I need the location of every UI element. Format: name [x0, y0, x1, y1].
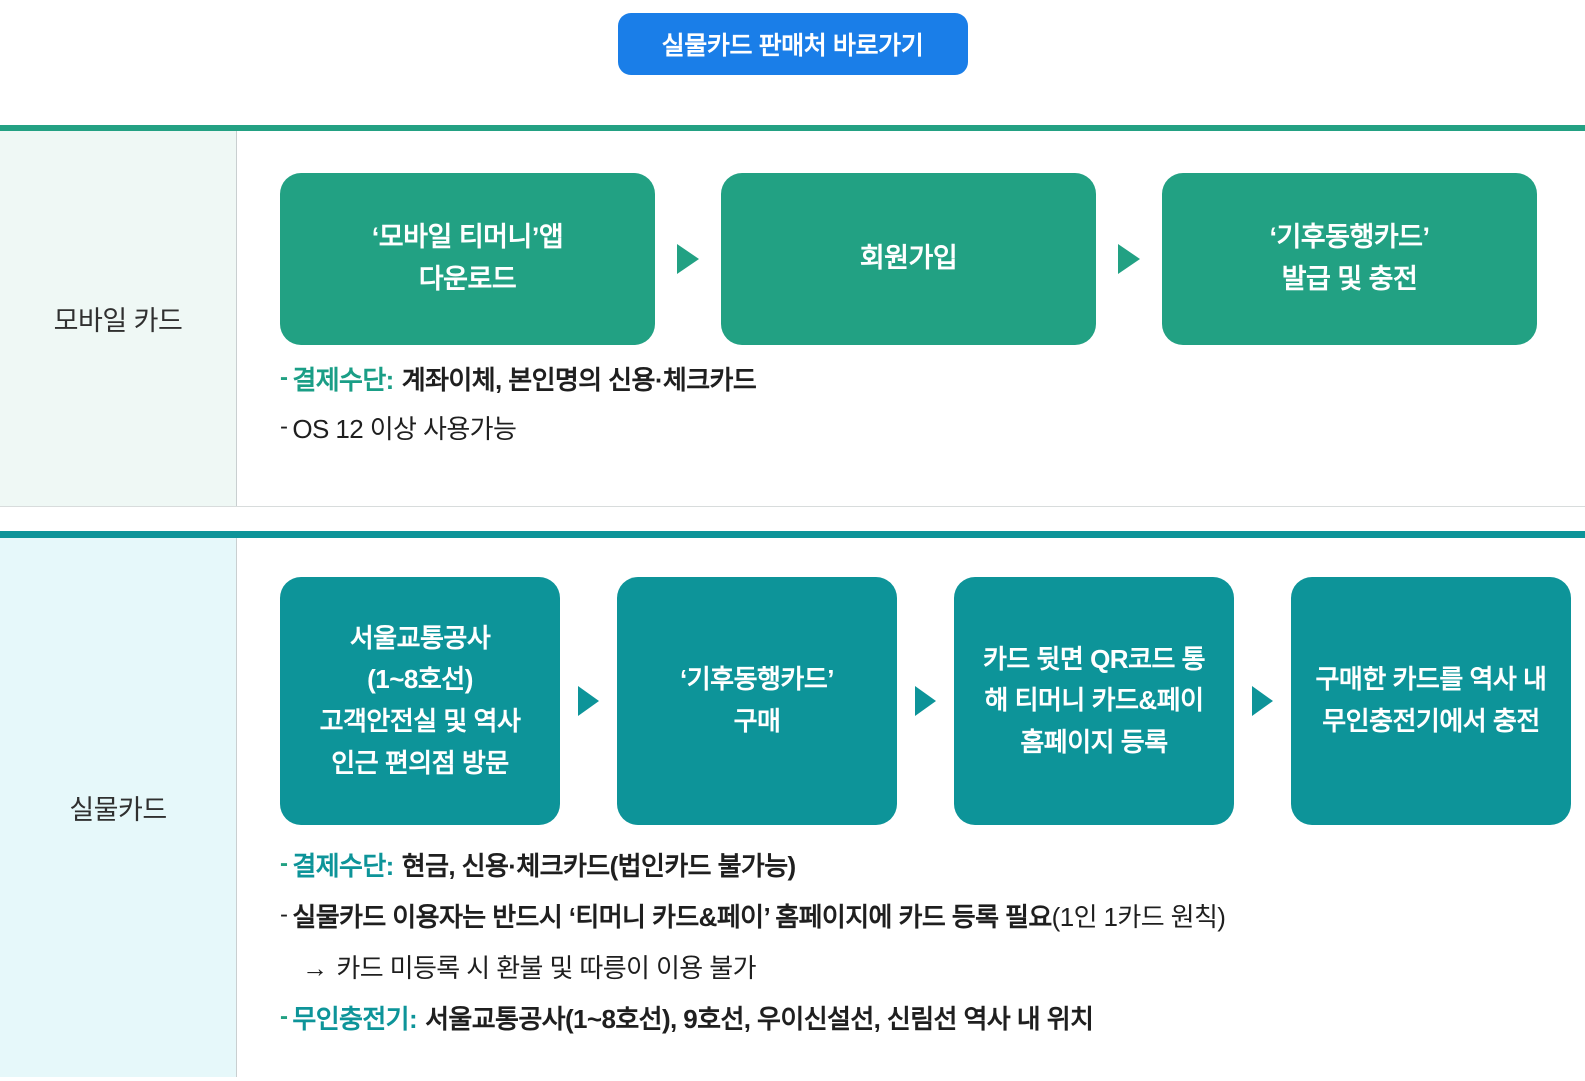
flow-step-line: 서울교통공사 — [350, 623, 491, 653]
flow-step-line: (1~8호선) — [367, 664, 473, 694]
note-dash-marker: - — [280, 366, 287, 390]
flow-step-line: 카드 뒷면 QR코드 통 — [983, 644, 1205, 674]
note-body: 계좌이체, 본인명의 신용·체크카드 — [402, 363, 756, 398]
note-line: - 무인충전기: 서울교통공사(1~8호선), 9호선, 우이신설선, 신림선 … — [280, 1002, 1585, 1037]
flow-steps-mobile-card: ‘모바일 티머니’앱 다운로드 회원가입 ‘기후동행카드’ 발급 및 충전 — [280, 131, 1585, 345]
note-line: - OS 12 이상 사용가능 — [280, 412, 1585, 447]
note-body: OS 12 이상 사용가능 — [292, 412, 516, 447]
flow-step-text: 구매한 카드를 역사 내 무인충전기에서 충전 — [1316, 659, 1547, 742]
flow-step-line: 발급 및 충전 — [1282, 264, 1418, 294]
arrow-right-icon — [1118, 244, 1140, 274]
flow-step-line: ‘기후동행카드’ — [1269, 222, 1429, 252]
flow-step-text: 서울교통공사 (1~8호선) 고객안전실 및 역사 인근 편의점 방문 — [320, 618, 521, 784]
flow-step-box[interactable]: 구매한 카드를 역사 내 무인충전기에서 충전 — [1291, 577, 1571, 825]
flow-step-box[interactable]: 회원가입 — [721, 173, 1096, 345]
row-content-mobile-card: ‘모바일 티머니’앱 다운로드 회원가입 ‘기후동행카드’ 발급 및 충전 — [237, 131, 1585, 506]
note-key: 결제수단: — [292, 849, 393, 884]
flow-step-text: ‘기후동행카드’ 구매 — [680, 659, 834, 742]
flow-step-box[interactable]: 서울교통공사 (1~8호선) 고객안전실 및 역사 인근 편의점 방문 — [280, 577, 560, 825]
row-label-mobile-card: 모바일 카드 — [54, 299, 183, 338]
flow-step-line: 다운로드 — [419, 264, 516, 294]
note-dash-marker: - — [280, 852, 287, 876]
note-body: 서울교통공사(1~8호선), 9호선, 우이신설선, 신림선 역사 내 위치 — [425, 1002, 1093, 1037]
row-label-physical-card: 실물카드 — [69, 788, 166, 827]
row-content-physical-card: 서울교통공사 (1~8호선) 고객안전실 및 역사 인근 편의점 방문 ‘기후동… — [237, 538, 1585, 1077]
flow-step-line: 고객안전실 및 역사 — [320, 706, 521, 736]
row-label-cell-mobile-card: 모바일 카드 — [0, 131, 237, 506]
arrow-right-icon — [677, 244, 699, 274]
note-dash-marker: - — [280, 1005, 287, 1029]
notes-mobile-card: - 결제수단: 계좌이체, 본인명의 신용·체크카드 - OS 12 이상 사용… — [280, 345, 1585, 461]
flow-step-text: ‘기후동행카드’ 발급 및 충전 — [1269, 217, 1429, 301]
flow-step-line: 구매 — [734, 706, 781, 736]
note-suffix: (1인 1카드 원칙) — [1052, 900, 1226, 935]
note-body: 카드 미등록 시 환불 및 따릉이 이용 불가 — [336, 951, 756, 986]
arrow-right-icon — [578, 686, 599, 716]
note-line: - 결제수단: 현금, 신용·체크카드(법인카드 불가능) — [280, 849, 1585, 884]
note-key: 결제수단: — [292, 363, 393, 398]
note-line: - 실물카드 이용자는 반드시 ‘티머니 카드&페이’ 홈페이지에 카드 등록 … — [280, 900, 1585, 935]
note-dash-marker: - — [280, 903, 287, 927]
flow-steps-physical-card: 서울교통공사 (1~8호선) 고객안전실 및 역사 인근 편의점 방문 ‘기후동… — [280, 538, 1585, 825]
row-mobile-card: 모바일 카드 ‘모바일 티머니’앱 다운로드 회원가입 — [0, 125, 1585, 507]
flow-step-line: 해 티머니 카드&페이 — [984, 685, 1203, 715]
flow-step-line: 홈페이지 등록 — [1020, 727, 1167, 757]
cta-button-container: 실물카드 판매처 바로가기 — [0, 0, 1585, 125]
arrow-right-icon — [1252, 686, 1273, 716]
notes-physical-card: - 결제수단: 현금, 신용·체크카드(법인카드 불가능) - 실물카드 이용자… — [280, 825, 1585, 1053]
flow-step-box[interactable]: 카드 뒷면 QR코드 통 해 티머니 카드&페이 홈페이지 등록 — [954, 577, 1234, 825]
flow-step-line: 무인충전기에서 충전 — [1322, 706, 1540, 736]
flow-step-line: ‘모바일 티머니’앱 — [372, 222, 563, 252]
note-key: 무인충전기: — [292, 1002, 417, 1037]
flow-step-box[interactable]: ‘기후동행카드’ 발급 및 충전 — [1162, 173, 1537, 345]
note-body: 현금, 신용·체크카드(법인카드 불가능) — [402, 849, 796, 884]
note-line: - 결제수단: 계좌이체, 본인명의 신용·체크카드 — [280, 363, 1585, 398]
card-issuance-flow-table: 모바일 카드 ‘모바일 티머니’앱 다운로드 회원가입 — [0, 125, 1585, 1077]
note-body: 실물카드 이용자는 반드시 ‘티머니 카드&페이’ 홈페이지에 카드 등록 필요 — [292, 900, 1051, 935]
flow-step-line: 인근 편의점 방문 — [331, 748, 508, 778]
flow-step-text: 회원가입 — [860, 238, 957, 280]
flow-step-line: ‘기후동행카드’ — [680, 664, 834, 694]
note-sub-line: → 카드 미등록 시 환불 및 따릉이 이용 불가 — [302, 951, 1585, 986]
row-physical-card: 실물카드 서울교통공사 (1~8호선) 고객안전실 및 역사 인근 편의점 방문… — [0, 531, 1585, 1077]
flow-step-line: 구매한 카드를 역사 내 — [1316, 664, 1547, 694]
row-label-cell-physical-card: 실물카드 — [0, 538, 237, 1077]
note-dash-marker: - — [280, 415, 287, 439]
flow-step-box[interactable]: ‘모바일 티머니’앱 다운로드 — [280, 173, 655, 345]
flow-step-text: ‘모바일 티머니’앱 다운로드 — [372, 217, 563, 301]
physical-card-retailer-link-button[interactable]: 실물카드 판매처 바로가기 — [618, 13, 968, 75]
flow-step-text: 카드 뒷면 QR코드 통 해 티머니 카드&페이 홈페이지 등록 — [983, 639, 1205, 764]
flow-step-box[interactable]: ‘기후동행카드’ 구매 — [617, 577, 897, 825]
arrow-right-icon — [915, 686, 936, 716]
flow-step-line: 회원가입 — [860, 243, 957, 273]
arrow-right-glyph-icon: → — [302, 951, 327, 986]
